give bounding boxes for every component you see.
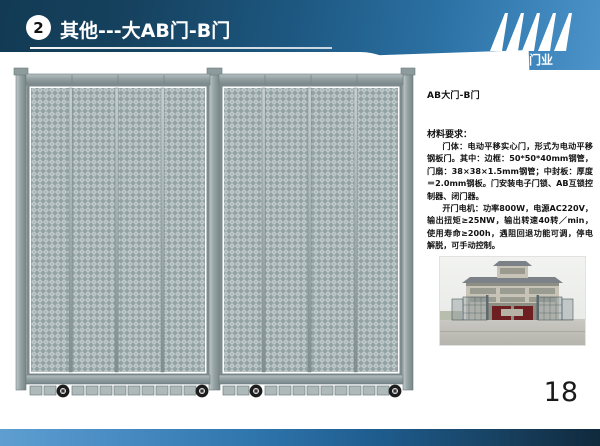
gate-roller xyxy=(196,385,209,398)
gate-roller xyxy=(250,385,263,398)
footer-bar xyxy=(0,429,600,446)
gate-leaf-right xyxy=(219,74,403,397)
page-title: 其他---大AB门-B门 xyxy=(60,16,230,43)
company-logo: 五加门业 xyxy=(480,5,578,67)
slide-page: 2 其他---大AB门-B门 五加门业 xyxy=(0,0,600,446)
gate-roller xyxy=(389,385,402,398)
gate-roller xyxy=(57,385,70,398)
title-underline xyxy=(30,47,332,49)
section-number-badge: 2 xyxy=(26,15,51,40)
gate-photo xyxy=(440,257,585,345)
product-title: AB大门-B门 xyxy=(427,88,480,101)
logo-text: 五加门业 xyxy=(505,52,553,67)
gate-leaf-left xyxy=(26,74,210,397)
spec-line: 门体：电动平移实心门，形式为电动平移钢板门。其中：边框：50*50*40mm钢管… xyxy=(427,140,593,202)
spec-line: 开门电机：功率800W，电源AC220V，输出扭矩≥25NW，输出转速40转／m… xyxy=(427,202,593,252)
gate-drawing xyxy=(10,60,422,400)
page-number: 18 xyxy=(544,377,578,408)
spec-heading: 材料要求： xyxy=(427,127,472,140)
spec-body: 门体：电动平移实心门，形式为电动平移钢板门。其中：边框：50*50*40mm钢管… xyxy=(427,140,593,252)
five-peaks-logo-icon: 五加门业 xyxy=(480,5,578,67)
